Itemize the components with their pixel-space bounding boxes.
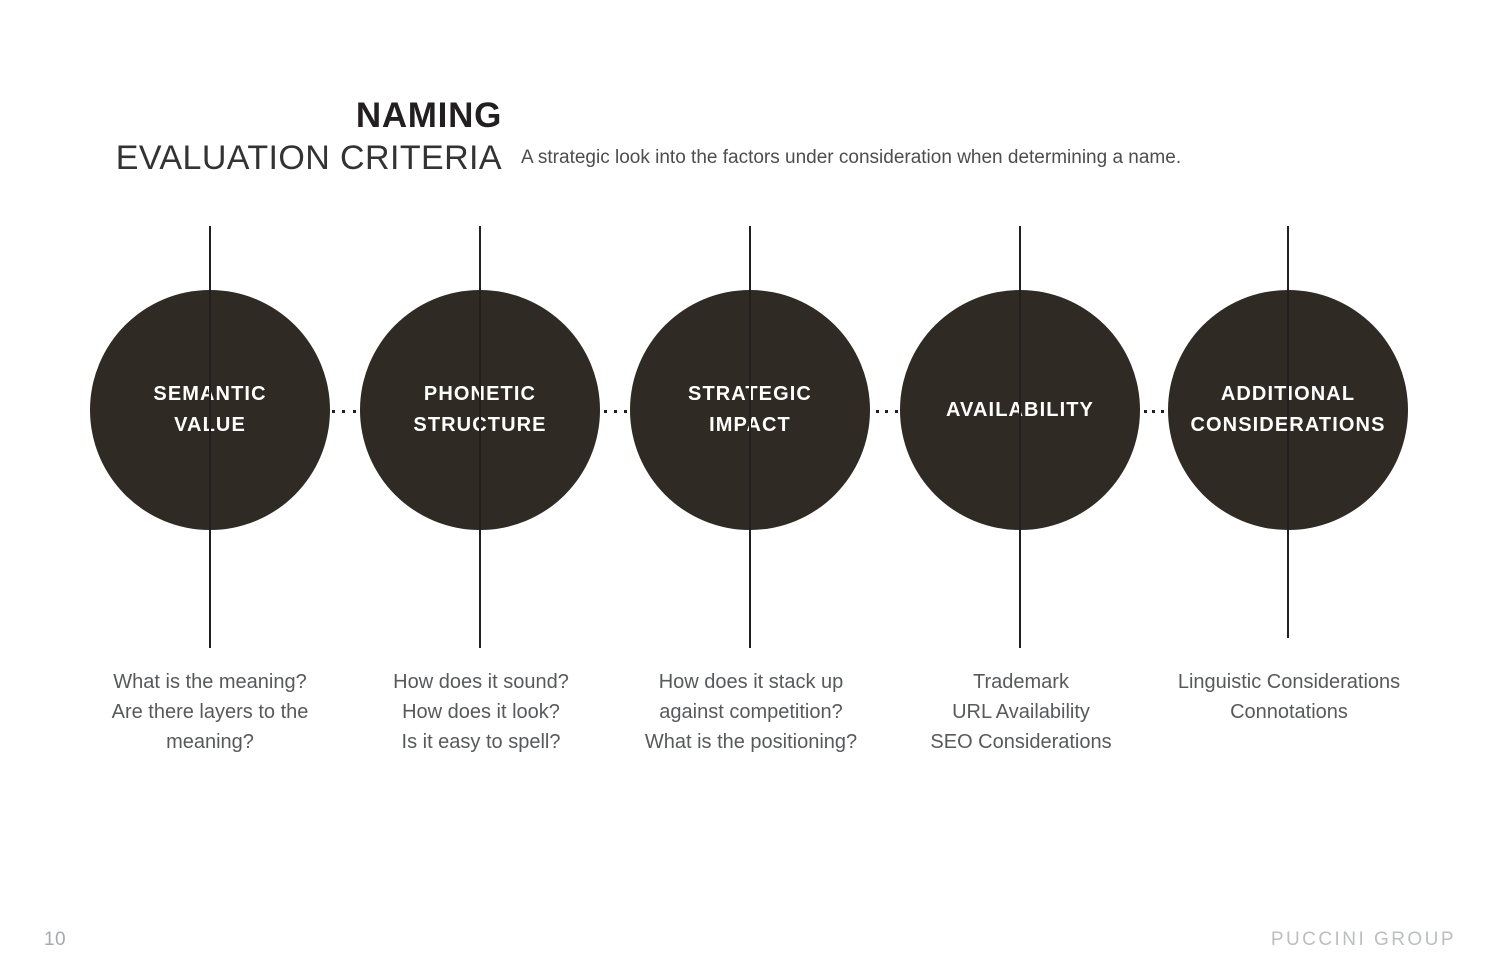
page-number: 10 (44, 929, 66, 951)
dot (1152, 410, 1155, 413)
node-stem-line (749, 226, 751, 648)
caption-line: What is the meaning? (60, 667, 360, 697)
node-caption-semantic-value: What is the meaning? Are there layers to… (60, 667, 360, 757)
caption-line: meaning? (60, 727, 360, 757)
dot (885, 410, 888, 413)
dot (876, 410, 879, 413)
node-stem-line (479, 226, 481, 648)
caption-line: SEO Considerations (871, 727, 1171, 757)
caption-line: Connotations (1139, 697, 1439, 727)
brand-wordmark: PUCCINI GROUP (1271, 929, 1456, 951)
dot (614, 410, 617, 413)
node-stem-line (1287, 226, 1289, 638)
caption-line: How does it sound? (331, 667, 631, 697)
caption-line: How does it look? (331, 697, 631, 727)
node-caption-phonetic-structure: How does it sound? How does it look? Is … (331, 667, 631, 757)
node-stem-line (209, 226, 211, 648)
process-chain-diagram: SEMANTIC VALUE PHONETIC STRUCTURE (0, 0, 1500, 971)
dot (1144, 410, 1147, 413)
dot (895, 410, 898, 413)
dot (332, 410, 335, 413)
node-caption-strategic-impact: How does it stack up against competition… (601, 667, 901, 757)
node-caption-availability: Trademark URL Availability SEO Considera… (871, 667, 1171, 757)
caption-line: What is the positioning? (601, 727, 901, 757)
caption-line: Trademark (871, 667, 1171, 697)
caption-line: URL Availability (871, 697, 1171, 727)
dot (1161, 410, 1164, 413)
node-caption-additional-considerations: Linguistic Considerations Connotations (1139, 667, 1439, 727)
caption-line: Linguistic Considerations (1139, 667, 1439, 697)
caption-line: against competition? (601, 697, 901, 727)
dot (604, 410, 607, 413)
caption-line: Is it easy to spell? (331, 727, 631, 757)
node-stem-line (1019, 226, 1021, 648)
caption-line: How does it stack up (601, 667, 901, 697)
dot (342, 410, 345, 413)
dot (624, 410, 627, 413)
dot (353, 410, 356, 413)
caption-line: Are there layers to the (60, 697, 360, 727)
